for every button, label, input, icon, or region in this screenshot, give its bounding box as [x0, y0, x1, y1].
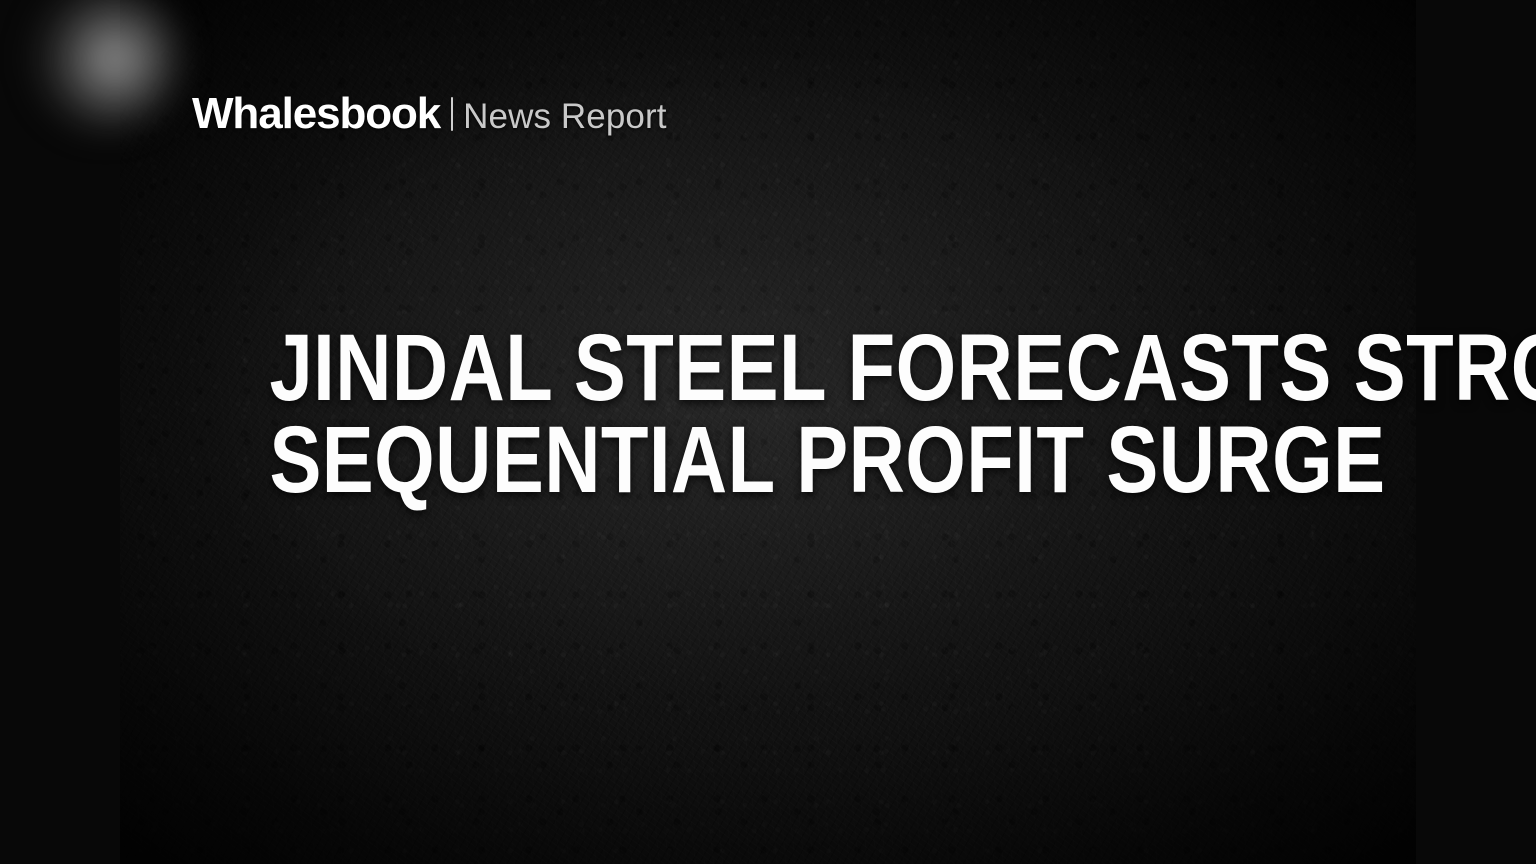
brand-lockup: Whalesbook News Report [192, 92, 667, 136]
headline-line-1: JINDAL STEEL FORECASTS STRONG [269, 322, 1266, 414]
brand-name: Whalesbook [192, 92, 440, 136]
letterbox-band-left [0, 0, 120, 864]
brand-subtitle: News Report [463, 99, 666, 134]
news-report-card: Whalesbook News Report JINDAL STEEL FORE… [0, 0, 1536, 864]
headline-line-2: SEQUENTIAL PROFIT SURGE [269, 414, 1266, 506]
headline: JINDAL STEEL FORECASTS STRONG SEQUENTIAL… [120, 322, 1416, 506]
brand-separator-icon [451, 97, 453, 131]
content-layer: Whalesbook News Report JINDAL STEEL FORE… [120, 0, 1416, 864]
letterbox-band-right [1416, 0, 1536, 864]
